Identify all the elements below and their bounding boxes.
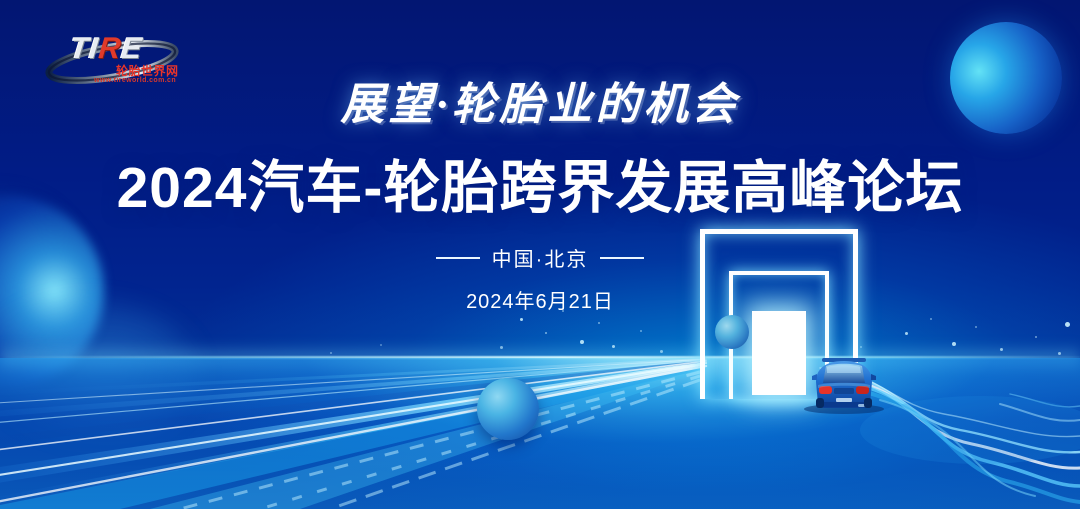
conference-poster: TIRE 轮胎世界网 www.tireworld.com.cn 展望·轮胎业的机…	[0, 0, 1080, 509]
portal-sphere	[715, 315, 749, 349]
ground-plane	[0, 358, 1080, 509]
rule-right	[600, 257, 644, 259]
poster-subtitle: 展望·轮胎业的机会	[0, 68, 1080, 132]
horizon-glow	[0, 344, 1080, 372]
horizon-line	[0, 356, 1080, 359]
location-row: 中国·北京	[0, 243, 1080, 272]
left-sphere-glow	[0, 300, 200, 450]
logo-word-suffix: E	[120, 32, 144, 65]
road-sphere	[477, 378, 539, 440]
portal-core-panel	[752, 311, 806, 395]
event-date: 2024年6月21日	[0, 285, 1080, 314]
blue-hatchback-car	[796, 352, 892, 414]
rule-left	[436, 257, 480, 259]
location-text: 中国·北京	[492, 243, 589, 272]
poster-main-title: 2024汽车-轮胎跨界发展高峰论坛	[0, 142, 1080, 224]
logo-word-prefix: TI	[68, 32, 100, 65]
logo-wordmark: TIRE	[68, 32, 144, 66]
